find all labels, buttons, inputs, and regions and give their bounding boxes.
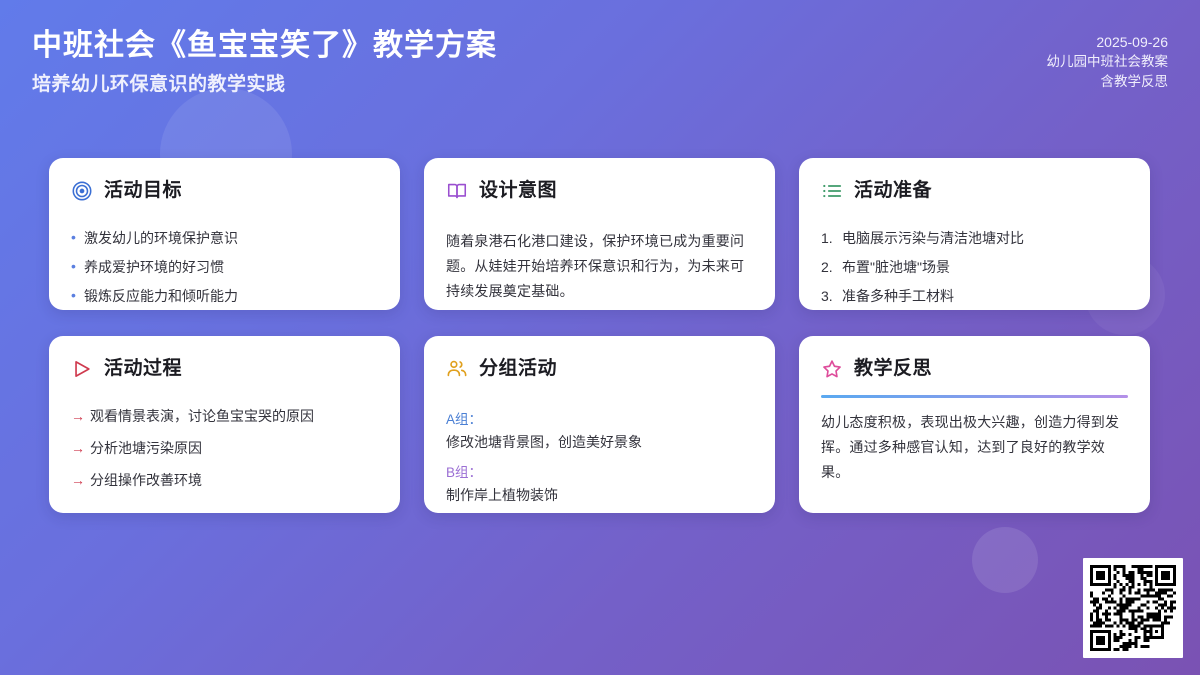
list-item: 2.布置"脏池塘"场景 — [821, 258, 1128, 276]
item-text: 电脑展示污染与清洁池塘对比 — [842, 230, 1024, 246]
card-group-activity[interactable]: 分组活动 A组： 修改池塘背景图，创造美好景象 B组： 制作岸上植物装饰 — [424, 336, 775, 513]
page-header: 中班社会《鱼宝宝笑了》教学方案 培养幼儿环保意识的教学实践 2025-09-26… — [0, 0, 1200, 130]
card-title: 分组活动 — [479, 354, 557, 384]
item-number: 3. — [821, 287, 833, 305]
card-body: 观看情景表演，讨论鱼宝宝哭的原因 分析池塘污染原因 分组操作改善环境 — [71, 407, 378, 503]
meta-category: 幼儿园中班社会教案 — [1047, 52, 1169, 72]
item-text: 准备多种手工材料 — [842, 288, 954, 304]
list-item: 1.电脑展示污染与清洁池塘对比 — [821, 229, 1128, 247]
card-header: 活动目标 — [71, 176, 378, 206]
item-text: 布置"脏池塘"场景 — [842, 259, 950, 275]
star-icon — [821, 358, 843, 380]
header-text-block: 中班社会《鱼宝宝笑了》教学方案 培养幼儿环保意识的教学实践 — [32, 26, 497, 100]
card-body: 随着泉港石化港口建设，保护环境已成为重要问题。从娃娃开始培养环保意识和行为，为未… — [446, 229, 753, 304]
card-activity-process[interactable]: 活动过程 观看情景表演，讨论鱼宝宝哭的原因 分析池塘污染原因 分组操作改善环境 — [49, 336, 400, 513]
card-title: 设计意图 — [479, 176, 557, 206]
qr-code-container[interactable] — [1083, 558, 1183, 658]
group-a-text: 修改池塘背景图，创造美好景象 — [446, 431, 753, 453]
list-item: 观看情景表演，讨论鱼宝宝哭的原因 — [71, 407, 378, 425]
card-header: 活动过程 — [71, 354, 378, 384]
card-header: 活动准备 — [821, 176, 1128, 206]
group-a-label: A组： — [446, 409, 753, 431]
list-item: 分析池塘污染原因 — [71, 439, 378, 457]
meta-note: 含教学反思 — [1047, 72, 1169, 92]
header-meta: 2025-09-26 幼儿园中班社会教案 含教学反思 — [1047, 32, 1169, 92]
card-header: 设计意图 — [446, 176, 753, 206]
item-number: 2. — [821, 258, 833, 276]
card-title: 活动准备 — [854, 176, 932, 206]
list-icon — [821, 180, 843, 202]
play-triangle-icon — [71, 358, 93, 380]
group-b-text: 制作岸上植物装饰 — [446, 484, 753, 506]
qr-code — [1090, 565, 1176, 651]
card-header: 教学反思 — [821, 354, 1128, 384]
card-teaching-reflection[interactable]: 教学反思 幼儿态度积极，表现出极大兴趣，创造力得到发挥。通过多种感官认知，达到了… — [799, 336, 1150, 513]
card-divider — [821, 395, 1128, 398]
list-item: 养成爱护环境的好习惯 — [71, 258, 378, 276]
card-activity-goal[interactable]: 活动目标 激发幼儿的环境保护意识 养成爱护环境的好习惯 锻炼反应能力和倾听能力 — [49, 158, 400, 310]
group-b-label: B组： — [446, 462, 753, 484]
preparation-list: 1.电脑展示污染与清洁池塘对比 2.布置"脏池塘"场景 3.准备多种手工材料 — [821, 229, 1128, 305]
list-item: 激发幼儿的环境保护意识 — [71, 229, 378, 247]
card-body: 1.电脑展示污染与清洁池塘对比 2.布置"脏池塘"场景 3.准备多种手工材料 — [821, 229, 1128, 310]
card-body: 幼儿态度积极，表现出极大兴趣，创造力得到发挥。通过多种感官认知，达到了良好的教学… — [821, 410, 1128, 499]
card-header: 分组活动 — [446, 354, 753, 384]
card-grid: 活动目标 激发幼儿的环境保护意识 养成爱护环境的好习惯 锻炼反应能力和倾听能力 … — [49, 158, 1151, 513]
card-body: 激发幼儿的环境保护意识 养成爱护环境的好习惯 锻炼反应能力和倾听能力 — [71, 229, 378, 310]
open-book-icon — [446, 180, 468, 202]
reflection-text: 幼儿态度积极，表现出极大兴趣，创造力得到发挥。通过多种感官认知，达到了良好的教学… — [821, 410, 1128, 485]
page-subtitle: 培养幼儿环保意识的教学实践 — [32, 70, 497, 100]
list-item: 分组操作改善环境 — [71, 471, 378, 489]
meta-date: 2025-09-26 — [1047, 32, 1169, 52]
list-item: 锻炼反应能力和倾听能力 — [71, 287, 378, 305]
card-title: 活动目标 — [104, 176, 182, 206]
process-list: 观看情景表演，讨论鱼宝宝哭的原因 分析池塘污染原因 分组操作改善环境 — [71, 407, 378, 489]
card-title: 活动过程 — [104, 354, 182, 384]
decorative-circle-small — [972, 527, 1038, 593]
design-intent-text: 随着泉港石化港口建设，保护环境已成为重要问题。从娃娃开始培养环保意识和行为，为未… — [446, 229, 753, 304]
card-body: A组： 修改池塘背景图，创造美好景象 B组： 制作岸上植物装饰 — [446, 407, 753, 513]
item-number: 1. — [821, 229, 833, 247]
list-item: 3.准备多种手工材料 — [821, 287, 1128, 305]
card-design-intent[interactable]: 设计意图 随着泉港石化港口建设，保护环境已成为重要问题。从娃娃开始培养环保意识和… — [424, 158, 775, 310]
page-title: 中班社会《鱼宝宝笑了》教学方案 — [32, 26, 497, 66]
card-activity-preparation[interactable]: 活动准备 1.电脑展示污染与清洁池塘对比 2.布置"脏池塘"场景 3.准备多种手… — [799, 158, 1150, 310]
goal-list: 激发幼儿的环境保护意识 养成爱护环境的好习惯 锻炼反应能力和倾听能力 — [71, 229, 378, 305]
target-icon — [71, 180, 93, 202]
card-title: 教学反思 — [854, 354, 932, 384]
people-icon — [446, 358, 468, 380]
